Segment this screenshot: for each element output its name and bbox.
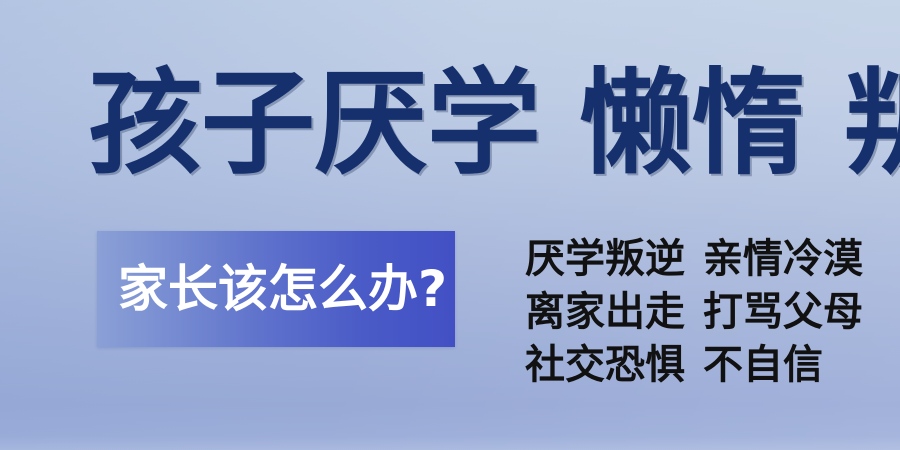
status-badge: 家长该怎么办? (97, 231, 455, 347)
symptom-left: 离家出走 (525, 291, 685, 333)
symptom-right: 亲情冷漠 (703, 238, 863, 280)
symptom-left: 厌学叛逆 (525, 238, 685, 280)
list-item: 离家出走 打骂父母 (525, 291, 865, 333)
status-badge-label: 家长该怎么办? (97, 264, 447, 314)
symptom-left: 社交恐惧 (525, 344, 685, 386)
page-title: 孩子厌学 懒惰 叛逆 (88, 56, 828, 192)
symptom-right: 打骂父母 (703, 291, 863, 333)
list-item: 社交恐惧 不自信 (525, 344, 865, 386)
poster-canvas: 孩子厌学 懒惰 叛逆 家长该怎么办? 厌学叛逆 亲情冷漠 离家出走 打骂父母 社… (0, 0, 900, 450)
symptom-right: 不自信 (703, 344, 823, 386)
list-item: 厌学叛逆 亲情冷漠 (525, 238, 865, 280)
symptom-list: 厌学叛逆 亲情冷漠 离家出走 打骂父母 社交恐惧 不自信 (525, 238, 865, 386)
